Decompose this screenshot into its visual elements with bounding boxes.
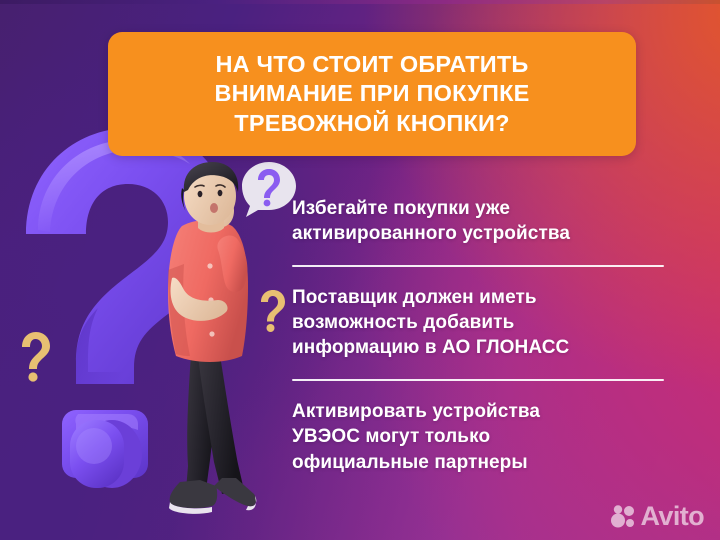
page-title: НА ЧТО СТОИТ ОБРАТИТЬ ВНИМАНИЕ ПРИ ПОКУП… (200, 50, 543, 138)
list-item: Поставщик должен иметь возможность добав… (292, 285, 664, 360)
avito-dots-icon (610, 504, 636, 530)
question-mark-gold-icon (16, 330, 56, 384)
avito-watermark: Avito (610, 503, 705, 530)
avito-wordmark: Avito (641, 503, 705, 530)
purple-disc-3d-icon (52, 418, 144, 490)
background-top-strip (0, 0, 720, 4)
speech-bubble-question-icon (240, 160, 298, 218)
list-divider (292, 265, 664, 267)
title-panel: НА ЧТО СТОИТ ОБРАТИТЬ ВНИМАНИЕ ПРИ ПОКУП… (108, 32, 636, 156)
poster-canvas: НА ЧТО СТОИТ ОБРАТИТЬ ВНИМАНИЕ ПРИ ПОКУП… (0, 0, 720, 540)
list-item: Избегайте покупки уже активированного ус… (292, 196, 664, 246)
list-item: Активировать устройства УВЭОС могут толь… (292, 399, 664, 474)
tips-list: Избегайте покупки уже активированного ус… (292, 196, 664, 475)
list-divider (292, 379, 664, 381)
